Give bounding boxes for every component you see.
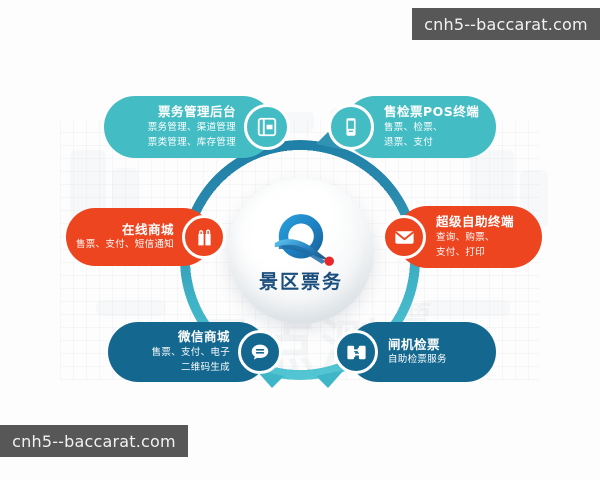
- card-self-service-kiosk-subtitle-1: 查询、购票、: [436, 231, 495, 245]
- card-backend-subtitle-1: 票务管理、渠道管理: [148, 121, 236, 135]
- card-gate-check-text: 闸机检票 自助检票服务: [378, 337, 447, 367]
- card-self-service-kiosk-title: 超级自助终端: [436, 214, 514, 230]
- card-self-service-kiosk-text: 超级自助终端 查询、购票、 支付、打印: [426, 214, 514, 259]
- chat-bubble-icon: [249, 341, 271, 363]
- card-pos-title: 售检票POS终端: [384, 104, 479, 120]
- watermark-top-right: cnh5--baccarat.com: [412, 8, 600, 40]
- turnstile-gate-icon: [345, 341, 368, 364]
- card-gate-check-title: 闸机检票: [388, 337, 440, 353]
- shopping-bag-icon: [194, 227, 215, 248]
- card-gate-check-icon-circle[interactable]: [334, 330, 378, 374]
- card-wechat-mall-title: 微信商城: [178, 329, 230, 345]
- card-backend-text: 票务管理后台 票务管理、渠道管理 票类管理、库存管理: [148, 104, 244, 149]
- card-backend-title: 票务管理后台: [158, 104, 236, 120]
- card-backend-subtitle-2: 票类管理、库存管理: [148, 136, 236, 150]
- handheld-pos-icon: [340, 116, 362, 138]
- card-pos[interactable]: 售检票POS终端 售票、检票、 退票、支付: [344, 96, 496, 158]
- card-online-mall-subtitle-1: 售票、支付、短信通知: [76, 238, 174, 252]
- card-online-mall[interactable]: 在线商城 售票、支付、短信通知: [66, 208, 212, 266]
- card-gate-check-subtitle-1: 自助检票服务: [388, 353, 447, 367]
- card-self-service-kiosk-subtitle-2: 支付、打印: [436, 246, 485, 260]
- card-wechat-mall-text: 微信商城 售票、支付、电子 二维码生成: [152, 329, 238, 374]
- card-pos-subtitle-1: 售票、检票、: [384, 121, 443, 135]
- card-pos-icon-circle[interactable]: [328, 104, 374, 150]
- card-wechat-mall-subtitle-2: 二维码生成: [181, 361, 230, 375]
- card-online-mall-icon-circle[interactable]: [182, 215, 226, 259]
- card-pos-text: 售检票POS终端 售票、检票、 退票、支付: [374, 104, 479, 149]
- card-online-mall-title: 在线商城: [122, 222, 174, 238]
- card-wechat-mall-subtitle-1: 售票、支付、电子: [152, 346, 230, 360]
- card-gate-check[interactable]: 闸机检票 自助检票服务: [348, 322, 496, 382]
- infographic-canvas: 景点测 票: [0, 0, 600, 480]
- envelope-icon: [393, 226, 416, 249]
- watermark-bottom-left: cnh5--baccarat.com: [0, 425, 188, 457]
- card-online-mall-text: 在线商城 售票、支付、短信通知: [76, 222, 182, 252]
- card-wechat-mall-icon-circle[interactable]: [238, 330, 282, 374]
- card-self-service-kiosk-icon-circle[interactable]: [382, 215, 426, 259]
- card-backend-icon-circle[interactable]: [244, 104, 290, 150]
- card-wechat-mall[interactable]: 微信商城 售票、支付、电子 二维码生成: [108, 322, 268, 382]
- book-ledger-icon: [256, 116, 278, 138]
- card-backend[interactable]: 票务管理后台 票务管理、渠道管理 票类管理、库存管理: [104, 96, 274, 158]
- card-pos-subtitle-2: 退票、支付: [384, 136, 433, 150]
- card-self-service-kiosk[interactable]: 超级自助终端 查询、购票、 支付、打印: [396, 206, 542, 268]
